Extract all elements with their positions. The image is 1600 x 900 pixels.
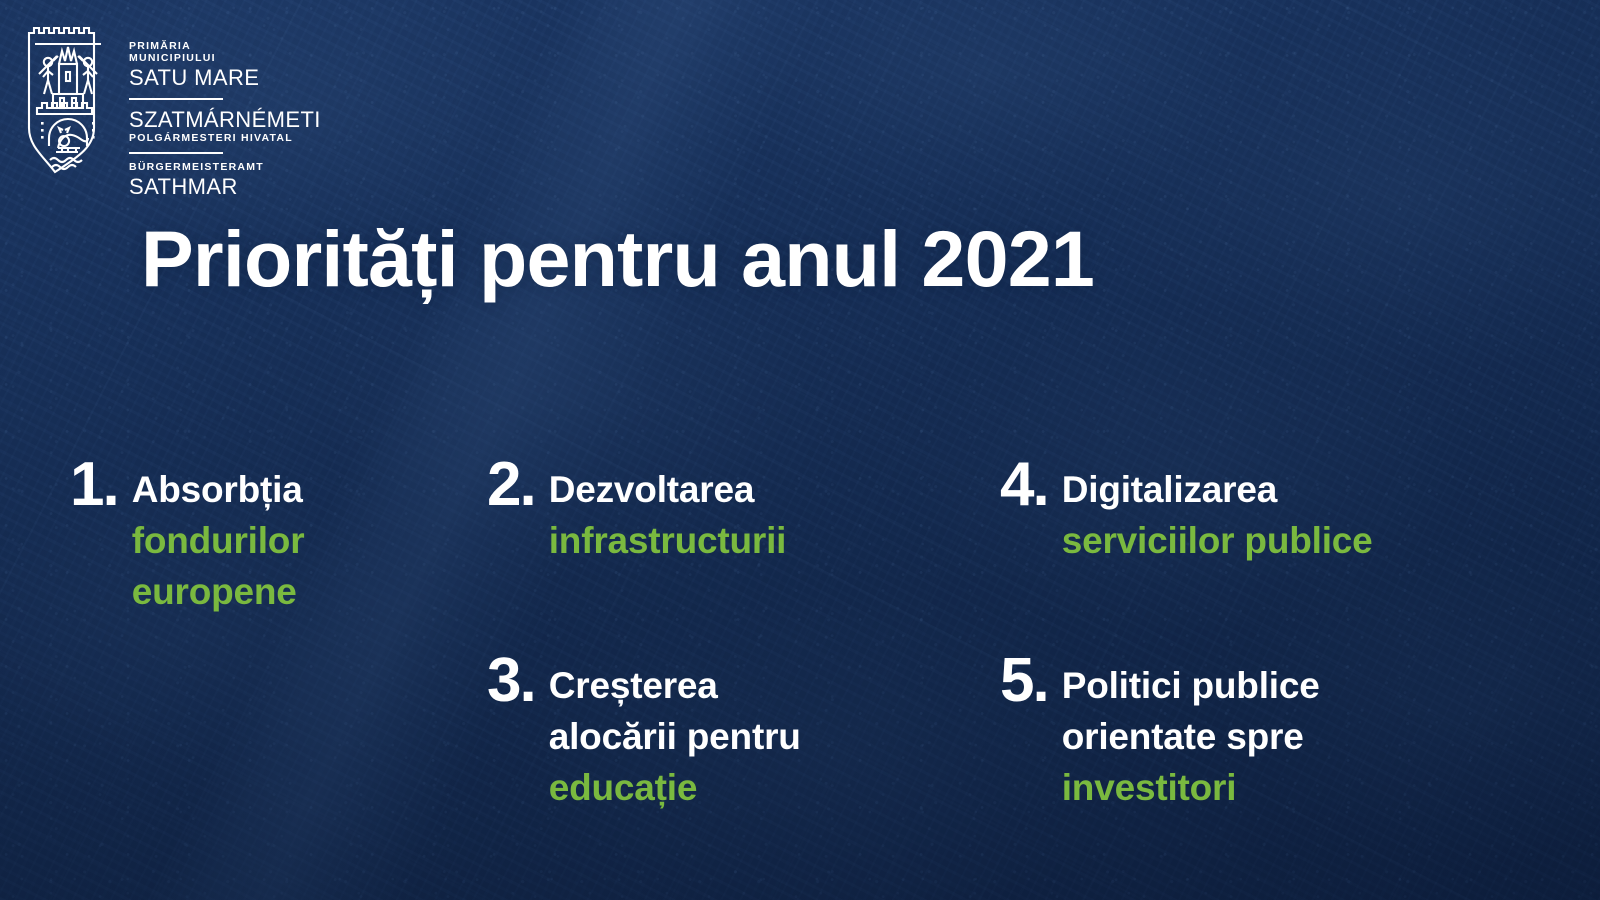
priority-line: alocării pentru <box>549 711 801 762</box>
priority-item-5: 5. Politici publice orientate spre inves… <box>1000 660 1320 813</box>
priority-line: Creșterea <box>549 660 801 711</box>
priority-line: serviciilor publice <box>1062 515 1373 566</box>
priority-item-4: 4. Digitalizarea serviciilor publice <box>1000 464 1373 566</box>
poster-content: PRIMĂRIA MUNICIPIULUI SATU MARE SZATMÁRN… <box>0 0 1600 900</box>
logo-de-city-name: SATHMAR <box>129 174 321 199</box>
logo-hu-city-name: SZATMÁRNÉMETI <box>129 107 321 132</box>
priorities-poster: PRIMĂRIA MUNICIPIULUI SATU MARE SZATMÁRN… <box>0 0 1600 900</box>
city-hall-logo: PRIMĂRIA MUNICIPIULUI SATU MARE SZATMÁRN… <box>26 24 321 199</box>
logo-divider-1 <box>129 98 223 100</box>
priority-line: fondurilor <box>132 515 305 566</box>
priority-line: Politici publice <box>1062 660 1320 711</box>
priority-line: Digitalizarea <box>1062 464 1373 515</box>
priority-line: investitori <box>1062 762 1320 813</box>
logo-ro-small-line1: PRIMĂRIA <box>129 40 321 52</box>
logo-de-subtitle: BÜRGERMEISTERAMT <box>129 161 321 173</box>
priority-text: Dezvoltarea infrastructurii <box>549 464 787 566</box>
priority-line: educație <box>549 762 801 813</box>
priority-text: Creșterea alocării pentru educație <box>549 660 801 813</box>
priority-line: Absorbția <box>132 464 305 515</box>
priority-number: 3. <box>487 655 535 707</box>
priority-number: 5. <box>1000 655 1048 707</box>
priority-line: infrastructurii <box>549 515 787 566</box>
logo-divider-2 <box>129 152 223 154</box>
logo-text-block: PRIMĂRIA MUNICIPIULUI SATU MARE SZATMÁRN… <box>129 24 321 199</box>
priority-item-1: 1. Absorbția fondurilor europene <box>70 464 304 617</box>
satu-mare-coat-of-arms-icon <box>26 24 110 174</box>
logo-hu-subtitle: POLGÁRMESTERI HIVATAL <box>129 132 321 144</box>
logo-ro-small-line2: MUNICIPIULUI <box>129 52 321 64</box>
priority-number: 2. <box>487 459 535 511</box>
priority-item-3: 3. Creșterea alocării pentru educație <box>487 660 801 813</box>
priority-line: europene <box>132 566 305 617</box>
priority-line: orientate spre <box>1062 711 1320 762</box>
priority-text: Absorbția fondurilor europene <box>132 464 305 617</box>
priority-line: Dezvoltarea <box>549 464 787 515</box>
logo-ro-city-name: SATU MARE <box>129 65 321 90</box>
priority-text: Politici publice orientate spre investit… <box>1062 660 1320 813</box>
priority-number: 1. <box>70 459 118 511</box>
priority-text: Digitalizarea serviciilor publice <box>1062 464 1373 566</box>
page-title: Priorități pentru anul 2021 <box>141 219 1094 298</box>
priority-item-2: 2. Dezvoltarea infrastructurii <box>487 464 786 566</box>
priority-number: 4. <box>1000 459 1048 511</box>
